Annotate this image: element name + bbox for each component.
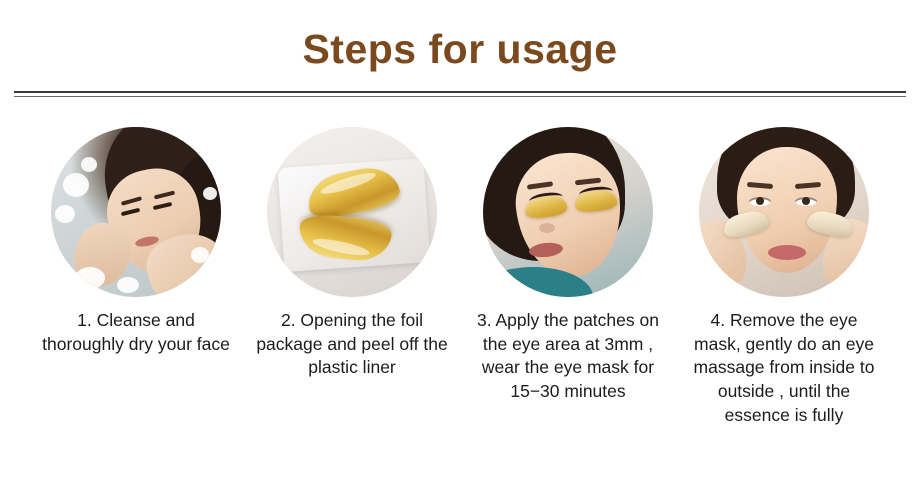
step-2-caption: 2. Opening the foil package and peel off… — [254, 309, 450, 380]
step-1-image — [51, 127, 221, 297]
foam-bubble — [63, 173, 89, 197]
step-2-image — [267, 127, 437, 297]
woman-wearing-patches-illustration — [483, 127, 653, 297]
steps-row: 1. Cleanse and thoroughly dry your face … — [0, 97, 920, 427]
lips — [768, 245, 806, 260]
step-1: 1. Cleanse and thoroughly dry your face — [36, 127, 236, 427]
step-4-caption: 4. Remove the eye mask, gently do an eye… — [686, 309, 882, 427]
woman-removing-patches-illustration — [699, 127, 869, 297]
foam-bubble — [81, 157, 97, 172]
step-4-image — [699, 127, 869, 297]
usage-steps-page: Steps for usage — [0, 0, 920, 500]
step-2: 2. Opening the foil package and peel off… — [252, 127, 452, 427]
page-title: Steps for usage — [0, 0, 920, 72]
foam-bubble — [191, 247, 209, 263]
step-3-caption: 3. Apply the patches on the eye area at … — [470, 309, 666, 404]
step-1-caption: 1. Cleanse and thoroughly dry your face — [38, 309, 234, 356]
woman-washing-face-illustration — [51, 127, 221, 297]
step-3-image — [483, 127, 653, 297]
water-droplet — [203, 187, 217, 200]
foam-bubble — [55, 205, 75, 223]
step-3: 3. Apply the patches on the eye area at … — [468, 127, 668, 427]
gold-eye-patches-illustration — [267, 127, 437, 297]
foam-bubble — [75, 267, 105, 289]
foam-bubble — [117, 277, 139, 293]
step-4: 4. Remove the eye mask, gently do an eye… — [684, 127, 884, 427]
